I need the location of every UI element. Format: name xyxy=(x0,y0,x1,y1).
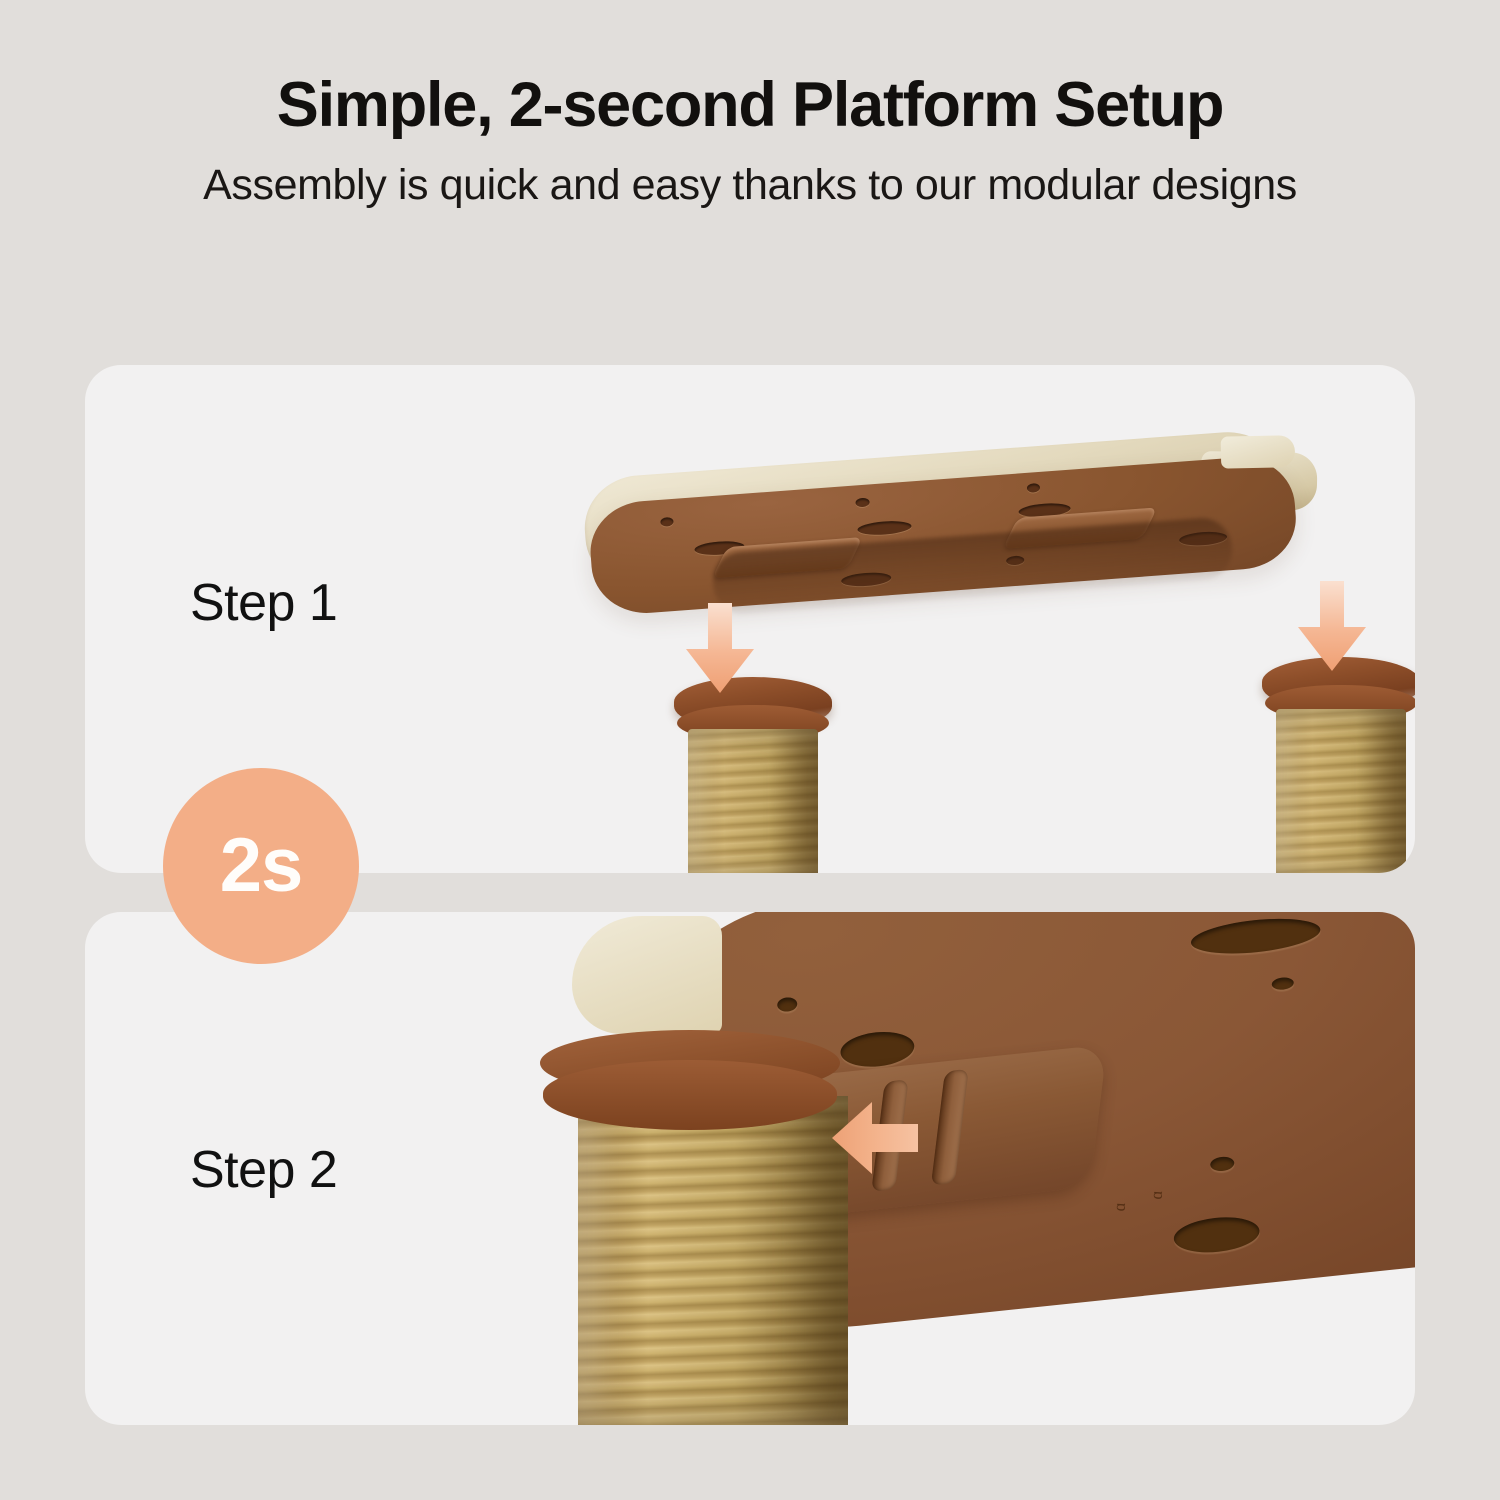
latch-rail xyxy=(931,1069,969,1186)
page-subtitle: Assembly is quick and easy thanks to our… xyxy=(0,138,1500,209)
board-hole xyxy=(1027,483,1041,493)
platform-board xyxy=(581,427,1309,611)
step-2-illustration: ⌐ɑ ɑ ɑ ɑ ɑ xyxy=(85,912,1415,1425)
board-hole xyxy=(857,519,912,536)
post-right xyxy=(1262,657,1415,873)
arrow-left-push-icon xyxy=(830,1100,920,1176)
emboss-marking: ɑ xyxy=(1110,1204,1130,1212)
header: Simple, 2-second Platform Setup Assembly… xyxy=(0,0,1500,209)
duration-badge-label: 2s xyxy=(220,828,303,904)
board-cream-top-sliver xyxy=(572,916,722,1034)
post-sisal-rope xyxy=(688,729,818,873)
arrow-down-left-icon xyxy=(682,603,758,695)
board-cream-edge-corner xyxy=(1221,435,1296,469)
board-hole xyxy=(660,517,674,527)
post-cap-lip xyxy=(543,1060,837,1130)
emboss-marking: ɑ xyxy=(1146,1192,1166,1200)
board-hole xyxy=(855,497,870,507)
duration-badge: 2s xyxy=(163,768,359,964)
arrow-down-right-icon xyxy=(1294,581,1370,673)
page-title: Simple, 2-second Platform Setup xyxy=(0,0,1500,138)
post-left xyxy=(674,677,832,873)
board-shadow-recess xyxy=(711,516,1234,616)
post-sisal-rope xyxy=(1276,709,1406,873)
post-cap-collar xyxy=(540,1030,840,1146)
